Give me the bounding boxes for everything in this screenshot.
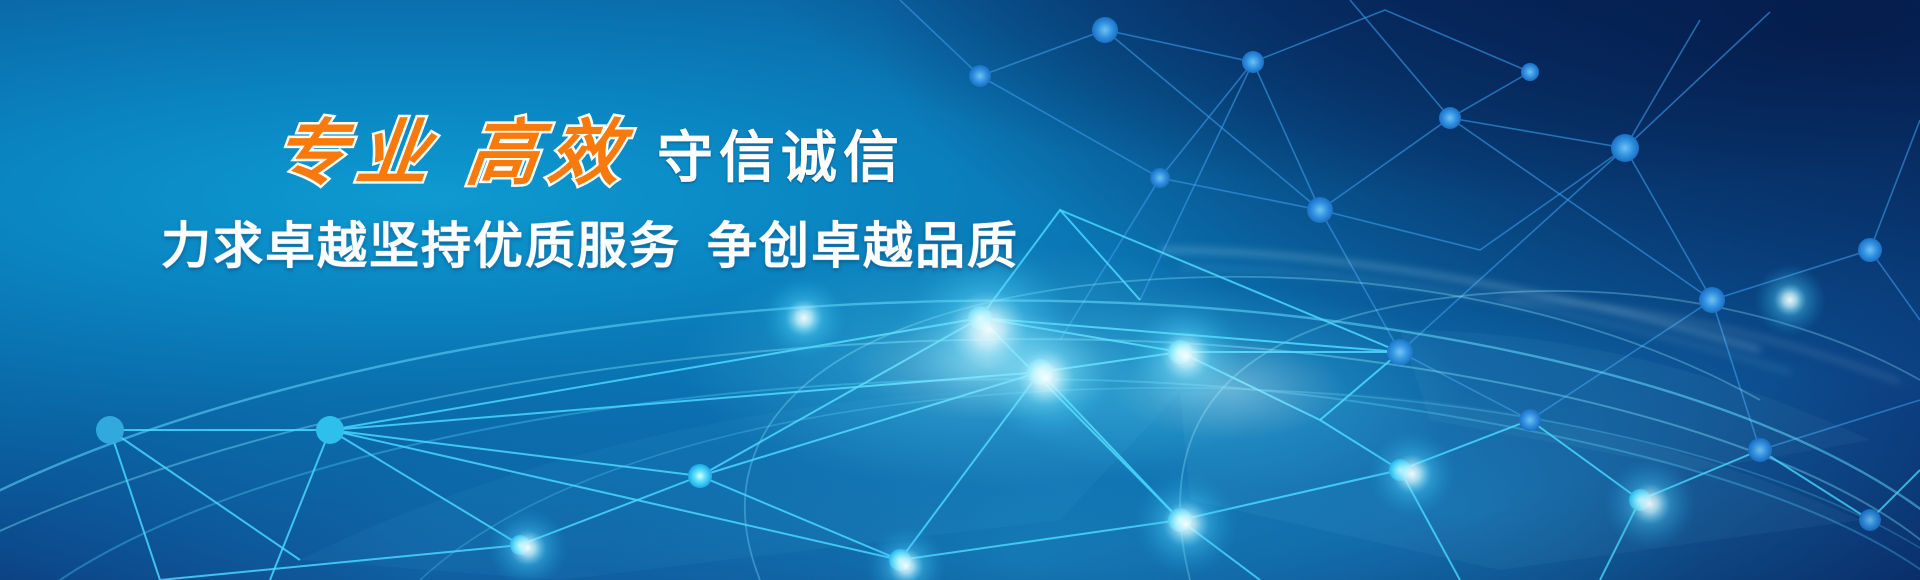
promo-banner: 专业 高效 守信诚信 力求卓越坚持优质服务争创卓越品质	[0, 0, 1920, 580]
subheadline-right: 争创卓越品质	[707, 218, 1019, 274]
headline-secondary: 守信诚信	[657, 130, 905, 186]
banner-copy: 专业 高效 守信诚信 力求卓越坚持优质服务争创卓越品质	[0, 118, 1180, 278]
subheadline: 力求卓越坚持优质服务争创卓越品质	[0, 206, 1180, 278]
headline: 专业 高效 守信诚信	[0, 118, 1180, 190]
network-graphic	[0, 0, 1920, 580]
subheadline-left: 力求卓越坚持优质服务	[161, 218, 681, 274]
headline-emphasis: 专业 高效	[271, 118, 636, 190]
